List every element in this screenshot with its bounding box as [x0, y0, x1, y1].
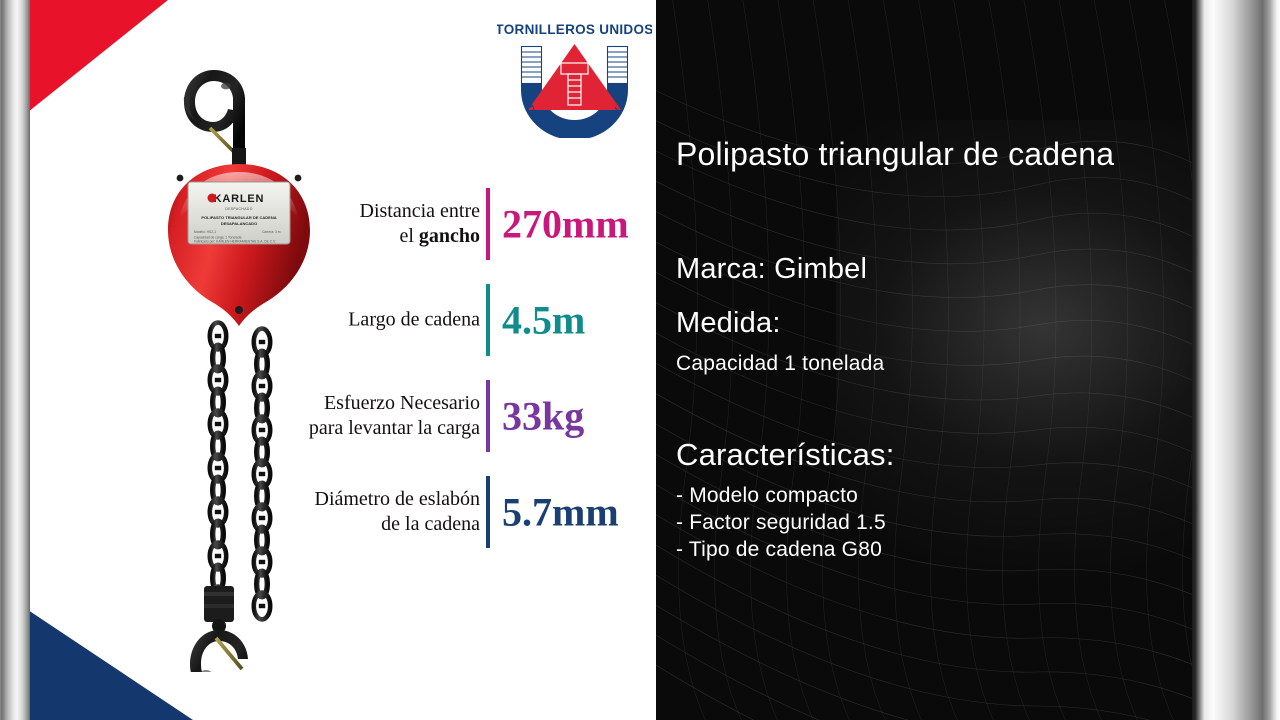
infographic-canvas: TORNILLEROS UNIDOS	[0, 0, 1280, 720]
top-hook	[184, 70, 245, 156]
features-list: - Modelo compacto - Factor seguridad 1.5…	[676, 482, 886, 563]
spec-label: Distancia entreel gancho	[250, 199, 480, 249]
spec-value: 5.7mm	[502, 489, 619, 536]
spec-divider-bar	[486, 380, 490, 452]
product-title: Polipasto triangular de cadena	[676, 135, 1196, 174]
load-chain-left	[210, 323, 226, 614]
product-brand: Marca: Gimbel	[676, 253, 867, 286]
spec-divider-bar	[486, 284, 490, 356]
spec-label: Esfuerzo Necesariopara levantar la carga	[250, 391, 480, 441]
spec-row-chain-length: Largo de cadena 4.5m	[270, 272, 655, 368]
load-chain-right	[254, 329, 270, 620]
spec-label: Diámetro de eslabónde la cadena	[250, 487, 480, 537]
spec-divider-bar	[486, 476, 490, 548]
svg-text:DESPACHADO: DESPACHADO	[225, 207, 253, 211]
metallic-edge-left	[0, 0, 30, 720]
left-product-panel: TORNILLEROS UNIDOS	[0, 0, 656, 720]
corner-accent-top-left	[28, 0, 168, 112]
features-heading: Características:	[676, 437, 895, 473]
bottom-hook	[190, 586, 252, 672]
spec-value: 270mm	[502, 201, 629, 248]
feature-item: - Modelo compacto	[676, 482, 886, 509]
spec-row-lifting-effort: Esfuerzo Necesariopara levantar la carga…	[270, 368, 655, 464]
svg-text:TORNILLEROS UNIDOS: TORNILLEROS UNIDOS	[497, 22, 652, 37]
feature-item: - Factor seguridad 1.5	[676, 509, 886, 536]
metallic-edge-right	[1192, 0, 1280, 720]
spec-value: 33kg	[502, 393, 584, 440]
feature-item: - Tipo de cadena G80	[676, 536, 886, 563]
measurement-heading: Medida:	[676, 307, 781, 340]
spec-label: Largo de cadena	[250, 308, 480, 333]
svg-text:Modelo: HSZ-1: Modelo: HSZ-1	[194, 230, 216, 234]
spec-divider-bar	[486, 188, 490, 260]
specifications-list: Distancia entreel gancho 270mm Largo de …	[270, 176, 655, 560]
spec-value: 4.5m	[502, 297, 585, 344]
measurement-value: Capacidad 1 tonelada	[676, 352, 884, 376]
spec-row-hook-distance: Distancia entreel gancho 270mm	[270, 176, 655, 272]
company-logo: TORNILLEROS UNIDOS	[497, 12, 652, 138]
spec-row-link-diameter: Diámetro de eslabónde la cadena 5.7mm	[270, 464, 655, 560]
right-info-panel: Polipasto triangular de cadena Marca: Gi…	[656, 0, 1280, 720]
